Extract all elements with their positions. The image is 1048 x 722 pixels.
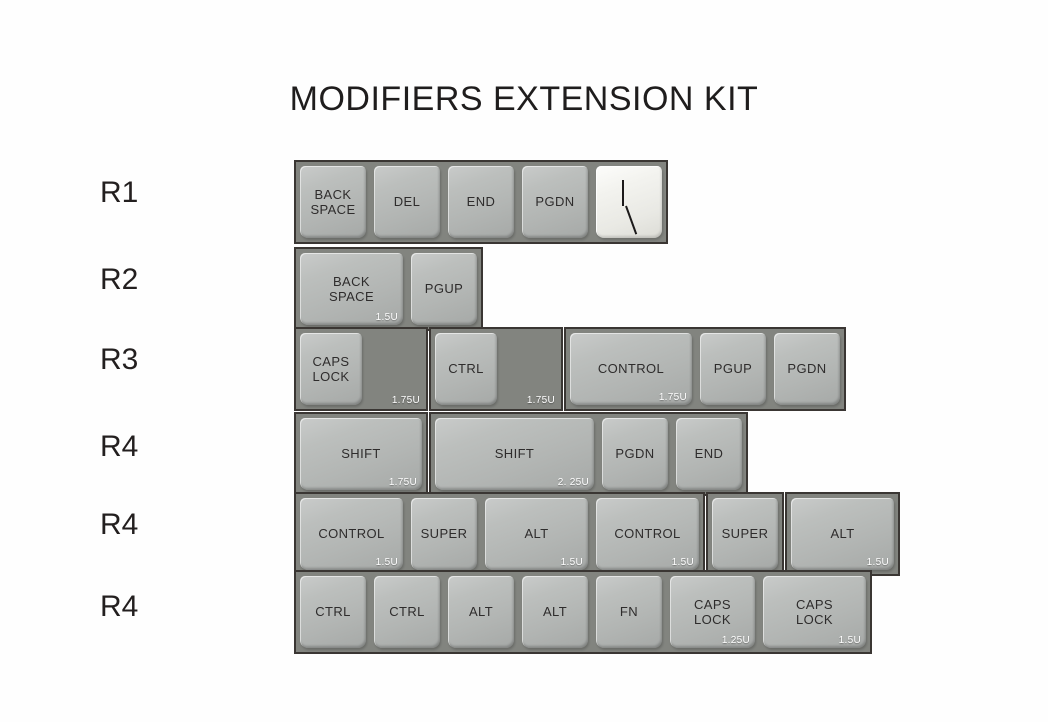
keycap[interactable]: SUPER bbox=[411, 498, 477, 570]
keycap[interactable]: END bbox=[448, 166, 514, 238]
key-base: PGDN bbox=[770, 329, 844, 409]
keycap-legend: PGDN bbox=[787, 361, 826, 376]
keycap[interactable]: CTRL bbox=[300, 576, 366, 648]
keycap[interactable]: BACK SPACE1.5U bbox=[300, 253, 403, 325]
keycap-legend: PGDN bbox=[535, 194, 574, 209]
keycap-legend: PGUP bbox=[425, 281, 463, 296]
keycap-legend: CONTROL bbox=[598, 361, 664, 376]
keycap[interactable]: ALT1.5U bbox=[791, 498, 894, 570]
keycap[interactable]: ALT bbox=[448, 576, 514, 648]
key-base: SHIFT2. 25U bbox=[431, 414, 598, 494]
kit-sheet: MODIFIERS EXTENSION KIT R1BACK SPACEDELE… bbox=[0, 0, 1048, 722]
key-group: CONTROL1.5USUPERALT1.5UCONTROL1.5U bbox=[294, 492, 705, 576]
keycap-row: BACK SPACEDELENDPGDN bbox=[294, 160, 669, 244]
keycap-legend: CTRL bbox=[448, 361, 484, 376]
key-base: BACK SPACE bbox=[296, 162, 370, 242]
keycap[interactable]: SHIFT2. 25U bbox=[435, 418, 594, 490]
keycap-legend: SUPER bbox=[421, 526, 468, 541]
keycap[interactable]: CTRL bbox=[374, 576, 440, 648]
key-base: CONTROL1.5U bbox=[296, 494, 407, 574]
keycap-legend: END bbox=[467, 194, 496, 209]
key-base: 1.75UCAPS LOCK bbox=[296, 329, 426, 409]
keycap[interactable]: PGDN bbox=[522, 166, 588, 238]
key-size-stamp: 1.75U bbox=[392, 395, 420, 406]
keycap-legend: ALT bbox=[524, 526, 548, 541]
row-label-2: R3 bbox=[100, 343, 190, 377]
key-base: CAPS LOCK1.25U bbox=[666, 572, 759, 652]
key-base bbox=[592, 162, 666, 242]
key-base: ALT1.5U bbox=[787, 494, 898, 574]
keycap[interactable]: CAPS LOCK bbox=[300, 333, 362, 405]
keycap-row: CTRLCTRLALTALTFNCAPS LOCK1.25UCAPS LOCK1… bbox=[294, 570, 873, 654]
keycap[interactable]: CONTROL1.5U bbox=[596, 498, 699, 570]
keycap-legend: ALT bbox=[830, 526, 854, 541]
keycap[interactable]: CONTROL1.75U bbox=[570, 333, 692, 405]
keycap-legend: PGUP bbox=[714, 361, 752, 376]
backslash-glyph bbox=[625, 206, 637, 235]
keycap-legend: CAPS LOCK bbox=[694, 597, 731, 628]
key-base: ALT bbox=[444, 572, 518, 652]
keycap[interactable]: PGDN bbox=[774, 333, 840, 405]
key-base: BACK SPACE1.5U bbox=[296, 249, 407, 329]
row-label-4: R4 bbox=[100, 508, 190, 542]
keycap[interactable]: SUPER bbox=[712, 498, 778, 570]
key-base: PGUP bbox=[696, 329, 770, 409]
keycap-legend: SHIFT bbox=[341, 446, 381, 461]
key-base: SUPER bbox=[407, 494, 481, 574]
key-base: CONTROL1.75U bbox=[566, 329, 696, 409]
key-size-stamp: 1.5U bbox=[867, 557, 889, 568]
key-group: CTRLCTRLALTALTFNCAPS LOCK1.25UCAPS LOCK1… bbox=[294, 570, 872, 654]
key-group: 1.75UCTRL bbox=[429, 327, 563, 411]
keycap-row: 1.75UCAPS LOCK1.75UCTRLCONTROL1.75UPGUPP… bbox=[294, 327, 847, 411]
key-base: ALT1.5U bbox=[481, 494, 592, 574]
key-group: SHIFT1.75U bbox=[294, 412, 428, 496]
key-base: ALT bbox=[518, 572, 592, 652]
key-size-stamp: 1.5U bbox=[839, 635, 861, 646]
keycap-legend: CONTROL bbox=[614, 526, 680, 541]
keycap[interactable]: END bbox=[676, 418, 742, 490]
row-label-3: R4 bbox=[100, 430, 190, 464]
keycap-row: CONTROL1.5USUPERALT1.5UCONTROL1.5USUPERA… bbox=[294, 492, 901, 576]
key-size-stamp: 1.5U bbox=[376, 312, 398, 323]
key-base: PGDN bbox=[518, 162, 592, 242]
keycap[interactable]: DEL bbox=[374, 166, 440, 238]
keycap-row: BACK SPACE1.5UPGUP bbox=[294, 247, 484, 331]
key-base: CONTROL1.5U bbox=[592, 494, 703, 574]
key-base: SUPER bbox=[708, 494, 782, 574]
key-size-stamp: 1.5U bbox=[376, 557, 398, 568]
key-base: PGDN bbox=[598, 414, 672, 494]
keycap[interactable] bbox=[596, 166, 662, 238]
keycap-row: SHIFT1.75USHIFT2. 25UPGDNEND bbox=[294, 412, 749, 496]
keycap-legend: ALT bbox=[469, 604, 493, 619]
keycap-legend: ALT bbox=[543, 604, 567, 619]
key-size-stamp: 1.5U bbox=[672, 557, 694, 568]
key-base: END bbox=[444, 162, 518, 242]
keycap-legend: FN bbox=[620, 604, 638, 619]
keycap[interactable]: FN bbox=[596, 576, 662, 648]
key-base: CAPS LOCK1.5U bbox=[759, 572, 870, 652]
keycap-legend: SHIFT bbox=[495, 446, 535, 461]
keycap[interactable]: PGDN bbox=[602, 418, 668, 490]
keycap-legend: CTRL bbox=[389, 604, 425, 619]
keycap[interactable]: ALT bbox=[522, 576, 588, 648]
keycap[interactable]: SHIFT1.75U bbox=[300, 418, 422, 490]
key-size-stamp: 1.75U bbox=[659, 392, 687, 403]
keycap-legend: BACK SPACE bbox=[310, 187, 355, 218]
key-size-stamp: 1.5U bbox=[561, 557, 583, 568]
row-label-0: R1 bbox=[100, 176, 190, 210]
pipe-glyph bbox=[622, 180, 624, 206]
key-group: BACK SPACEDELENDPGDN bbox=[294, 160, 668, 244]
keycap-legend: CAPS LOCK bbox=[796, 597, 833, 628]
keycap-legend: CONTROL bbox=[318, 526, 384, 541]
key-base: 1.75UCTRL bbox=[431, 329, 561, 409]
key-size-stamp: 1.25U bbox=[722, 635, 750, 646]
keycap[interactable]: PGUP bbox=[411, 253, 477, 325]
key-group: BACK SPACE1.5UPGUP bbox=[294, 247, 483, 331]
keycap[interactable]: BACK SPACE bbox=[300, 166, 366, 238]
key-size-stamp: 1.75U bbox=[527, 395, 555, 406]
keycap-legend: END bbox=[695, 446, 724, 461]
keycap[interactable]: CTRL bbox=[435, 333, 497, 405]
key-group: 1.75UCAPS LOCK bbox=[294, 327, 428, 411]
key-size-stamp: 1.75U bbox=[389, 477, 417, 488]
key-group: ALT1.5U bbox=[785, 492, 900, 576]
key-base: CTRL bbox=[370, 572, 444, 652]
key-base: CTRL bbox=[296, 572, 370, 652]
keycap[interactable]: CONTROL1.5U bbox=[300, 498, 403, 570]
keycap[interactable]: CAPS LOCK1.5U bbox=[763, 576, 866, 648]
key-base: SHIFT1.75U bbox=[296, 414, 426, 494]
keycap[interactable]: ALT1.5U bbox=[485, 498, 588, 570]
key-base: DEL bbox=[370, 162, 444, 242]
key-base: FN bbox=[592, 572, 666, 652]
keycap[interactable]: CAPS LOCK1.25U bbox=[670, 576, 755, 648]
keycap-legend: CTRL bbox=[315, 604, 351, 619]
key-group: SUPER bbox=[706, 492, 784, 576]
keycap[interactable]: PGUP bbox=[700, 333, 766, 405]
keycap-legend: CAPS LOCK bbox=[312, 354, 349, 385]
pipe-backslash-icon bbox=[596, 166, 662, 238]
keycap-legend: SUPER bbox=[722, 526, 769, 541]
key-group: CONTROL1.75UPGUPPGDN bbox=[564, 327, 846, 411]
keycap-legend: DEL bbox=[394, 194, 421, 209]
key-size-stamp: 2. 25U bbox=[558, 477, 589, 488]
keycap-legend: PGDN bbox=[615, 446, 654, 461]
key-base: END bbox=[672, 414, 746, 494]
key-group: SHIFT2. 25UPGDNEND bbox=[429, 412, 748, 496]
row-label-5: R4 bbox=[100, 590, 190, 624]
page-title: MODIFIERS EXTENSION KIT bbox=[0, 80, 1048, 119]
keycap-legend: BACK SPACE bbox=[329, 274, 374, 305]
row-label-1: R2 bbox=[100, 263, 190, 297]
key-base: PGUP bbox=[407, 249, 481, 329]
